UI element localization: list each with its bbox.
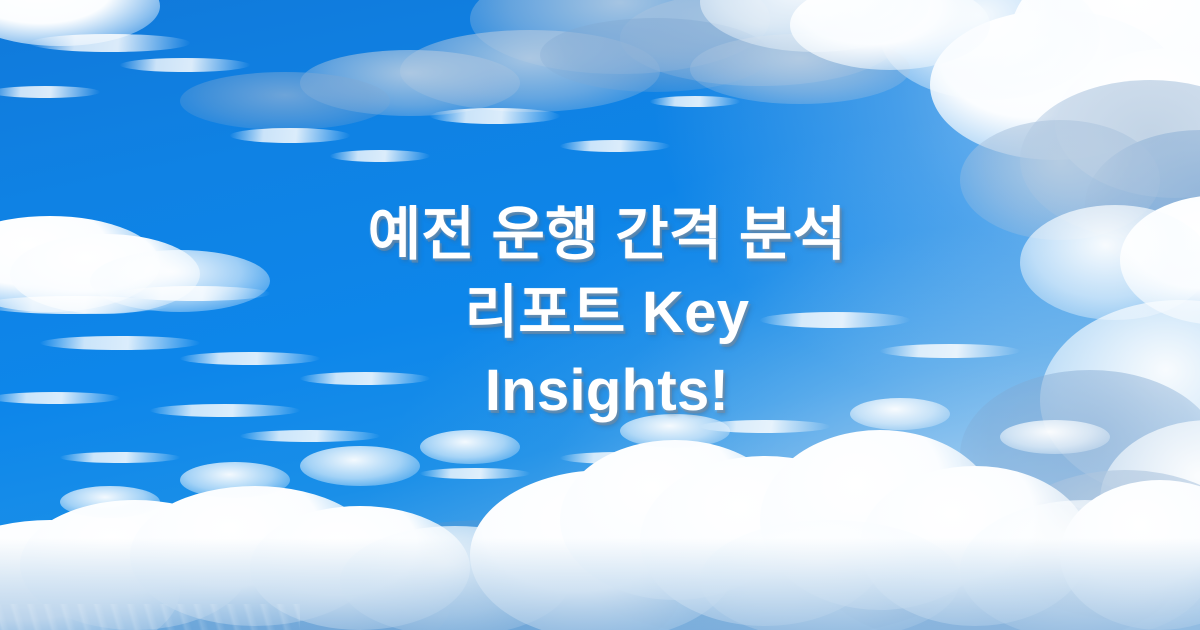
title-line-2: 리포트 Key	[14, 274, 1200, 352]
title-line-3: Insights!	[14, 352, 1200, 430]
bottom-edge-texture	[0, 604, 300, 630]
banner-title: 예전 운행 간격 분석 리포트 Key Insights!	[0, 196, 1200, 430]
title-line-1: 예전 운행 간격 분석	[14, 196, 1200, 274]
banner-canvas: 예전 운행 간격 분석 리포트 Key Insights!	[0, 0, 1200, 630]
